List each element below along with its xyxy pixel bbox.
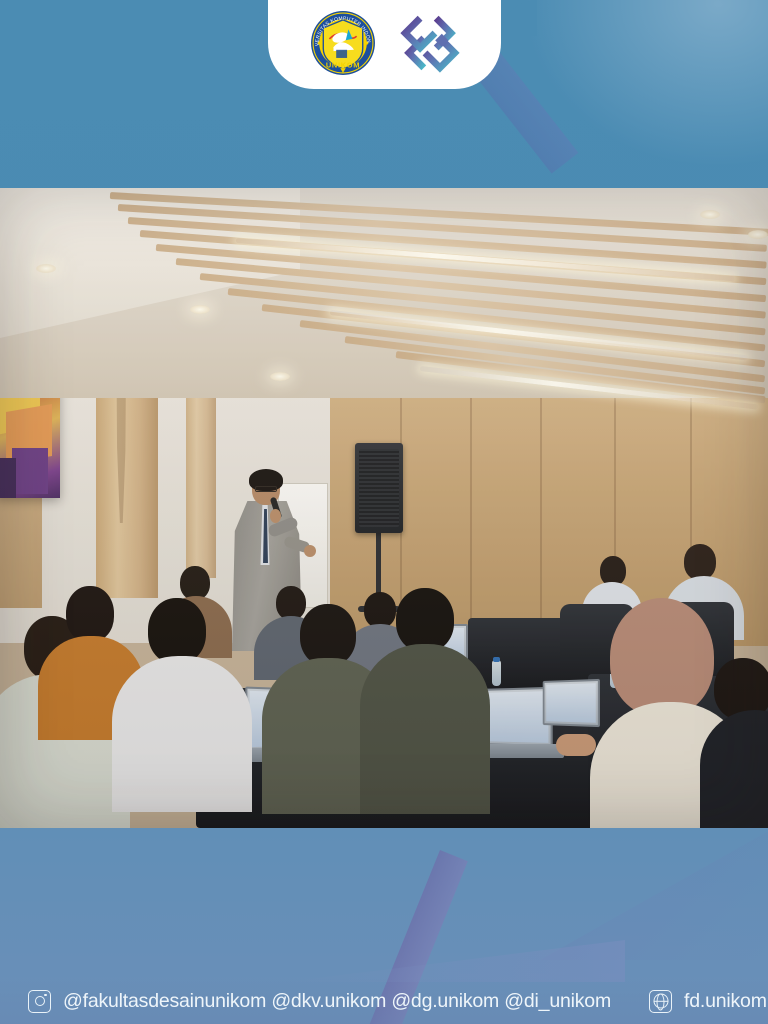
footer-bar: @fakultasdesainunikom @dkv.unikom @dg.un… bbox=[0, 978, 768, 1024]
participant-front bbox=[360, 588, 490, 808]
unikom-seal-logo: UNIKOM UNIVERSITAS KOMPUTER INDONESIA bbox=[309, 9, 377, 77]
downlight bbox=[36, 264, 56, 273]
water-bottle bbox=[492, 660, 501, 686]
downlight bbox=[270, 372, 290, 381]
svg-text:UNIKOM: UNIKOM bbox=[325, 60, 359, 69]
hand-on-laptop bbox=[556, 734, 596, 756]
laptop-screen-display bbox=[546, 683, 596, 723]
downlight bbox=[748, 230, 768, 239]
pa-speaker-grill bbox=[359, 449, 399, 527]
presenter-hand bbox=[270, 509, 281, 523]
instagram-icon[interactable] bbox=[28, 990, 51, 1013]
pa-speaker bbox=[355, 443, 403, 533]
fakultas-desain-logo bbox=[399, 12, 461, 74]
downlight bbox=[700, 210, 720, 219]
event-photo bbox=[0, 188, 768, 828]
header-notch-right bbox=[501, 0, 537, 36]
participant-front bbox=[700, 658, 768, 828]
header-notch-left bbox=[232, 0, 268, 36]
participant-front bbox=[112, 598, 252, 806]
downlight bbox=[190, 305, 210, 314]
social-handles-text: @fakultasdesainunikom @dkv.unikom @dg.un… bbox=[63, 990, 611, 1013]
website-text: fd.unikom.ac.id bbox=[684, 990, 768, 1013]
header-logo-plate: UNIKOM UNIVERSITAS KOMPUTER INDONESIA bbox=[268, 0, 501, 89]
laptop-screen-display bbox=[482, 691, 549, 743]
background-wedge-right bbox=[540, 830, 768, 960]
globe-icon[interactable] bbox=[649, 990, 672, 1013]
poster-canvas: UNIKOM UNIVERSITAS KOMPUTER INDONESIA bbox=[0, 0, 768, 1024]
presenter-hand bbox=[304, 545, 316, 557]
presenter-glasses bbox=[255, 486, 277, 492]
bottle-cap bbox=[493, 657, 500, 662]
slat-ceiling bbox=[0, 188, 768, 398]
